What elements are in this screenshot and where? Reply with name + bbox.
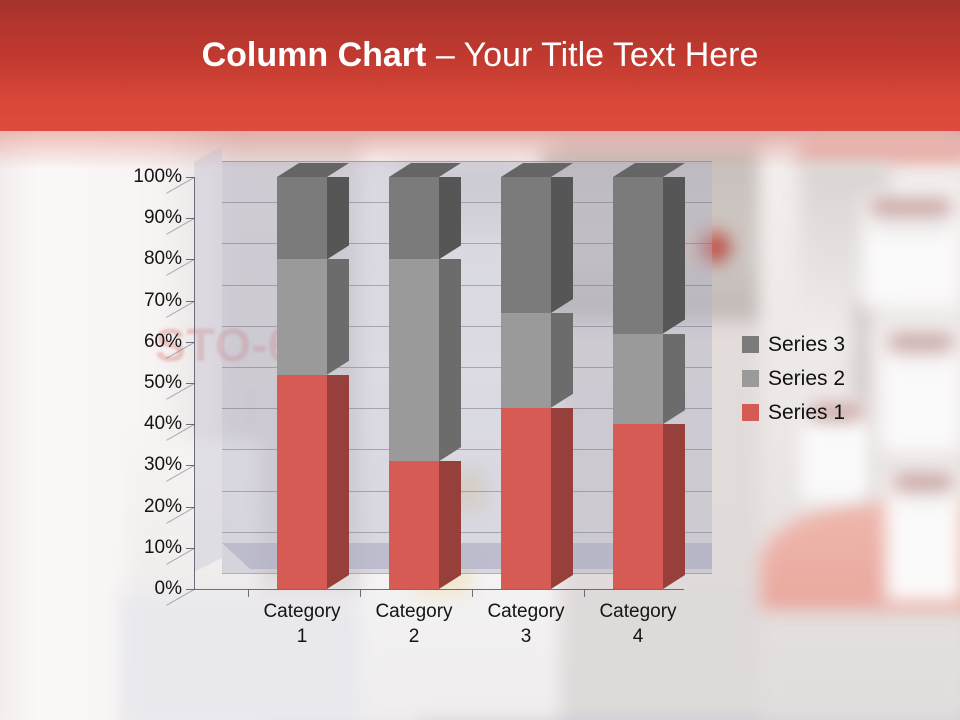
legend-item[interactable]: Series 2 [742, 361, 892, 395]
bar-segment-face [389, 461, 439, 589]
bar-segment-side [551, 408, 573, 589]
bar-segment-face [277, 259, 327, 374]
category-label-line1: Category [263, 601, 340, 622]
legend-swatch [742, 370, 759, 387]
page-title: Column Chart – Your Title Text Here [0, 35, 960, 75]
chart-legend: Series 3Series 2Series 1 [742, 327, 892, 429]
bar-segment-face [277, 177, 327, 259]
bar-segment[interactable] [613, 334, 663, 425]
bar-segment-top [613, 163, 685, 177]
bar-segment-face [613, 177, 663, 334]
bar-segment[interactable] [389, 259, 439, 461]
bar-segment-side [439, 259, 461, 461]
legend-swatch [742, 336, 759, 353]
slide-canvas: STO-6 Column Chart – Your Title Text Her… [0, 0, 960, 720]
category-label-line1: Category [599, 601, 676, 622]
bar-segment-side [663, 177, 685, 334]
bar-segment-side [439, 461, 461, 589]
legend-swatch [742, 404, 759, 421]
bar-segment-face [277, 375, 327, 589]
bar-segment-side [663, 334, 685, 425]
bar-segment-side [327, 177, 349, 259]
bar-segment-face [613, 424, 663, 589]
legend-label: Series 1 [768, 402, 845, 423]
x-axis-category-label: Category2 [354, 599, 474, 649]
bar-segment[interactable] [613, 424, 663, 589]
bar-segment[interactable] [501, 313, 551, 408]
legend-label: Series 3 [768, 334, 845, 355]
bar-segment[interactable] [277, 259, 327, 374]
legend-item[interactable]: Series 3 [742, 327, 892, 361]
bar-segment-side [327, 375, 349, 589]
title-bar: Column Chart – Your Title Text Here [0, 0, 960, 131]
x-axis-category-label: Category3 [466, 599, 586, 649]
category-label-line2: 3 [521, 626, 532, 647]
bar-segment-side [439, 177, 461, 259]
bar-segment-side [663, 424, 685, 589]
bar-segment-face [389, 177, 439, 259]
bar-segment[interactable] [613, 177, 663, 334]
bar-segment[interactable] [389, 177, 439, 259]
page-title-strong: Column Chart [202, 36, 427, 74]
legend-item[interactable]: Series 1 [742, 395, 892, 429]
page-title-dash: – [426, 36, 463, 74]
bar-segment-face [501, 408, 551, 589]
category-label-line2: 4 [633, 626, 644, 647]
x-axis-category-label: Category4 [578, 599, 698, 649]
chart-plot-area: 0%10%20%30%40%50%60%70%80%90%100% Catego… [0, 131, 960, 720]
category-label-line1: Category [487, 601, 564, 622]
category-label-line1: Category [375, 601, 452, 622]
x-axis-category-label: Category1 [242, 599, 362, 649]
bar-segment-side [327, 259, 349, 374]
category-label-line2: 1 [297, 626, 308, 647]
bar-segment[interactable] [501, 408, 551, 589]
bar-segment-face [389, 259, 439, 461]
bar-segment[interactable] [277, 375, 327, 589]
bar-segment-side [551, 313, 573, 408]
bar-segment-top [277, 163, 349, 177]
bar-segment[interactable] [277, 177, 327, 259]
legend-label: Series 2 [768, 368, 845, 389]
bar-segment[interactable] [501, 177, 551, 313]
bar-segment-face [501, 177, 551, 313]
bar-segment-top [389, 163, 461, 177]
bar-segment-top [501, 163, 573, 177]
category-label-line2: 2 [409, 626, 420, 647]
bar-segment[interactable] [389, 461, 439, 589]
bar-segment-side [551, 177, 573, 313]
bar-segment-face [613, 334, 663, 425]
bar-segment-face [501, 313, 551, 408]
page-title-light: Your Title Text Here [464, 36, 759, 74]
